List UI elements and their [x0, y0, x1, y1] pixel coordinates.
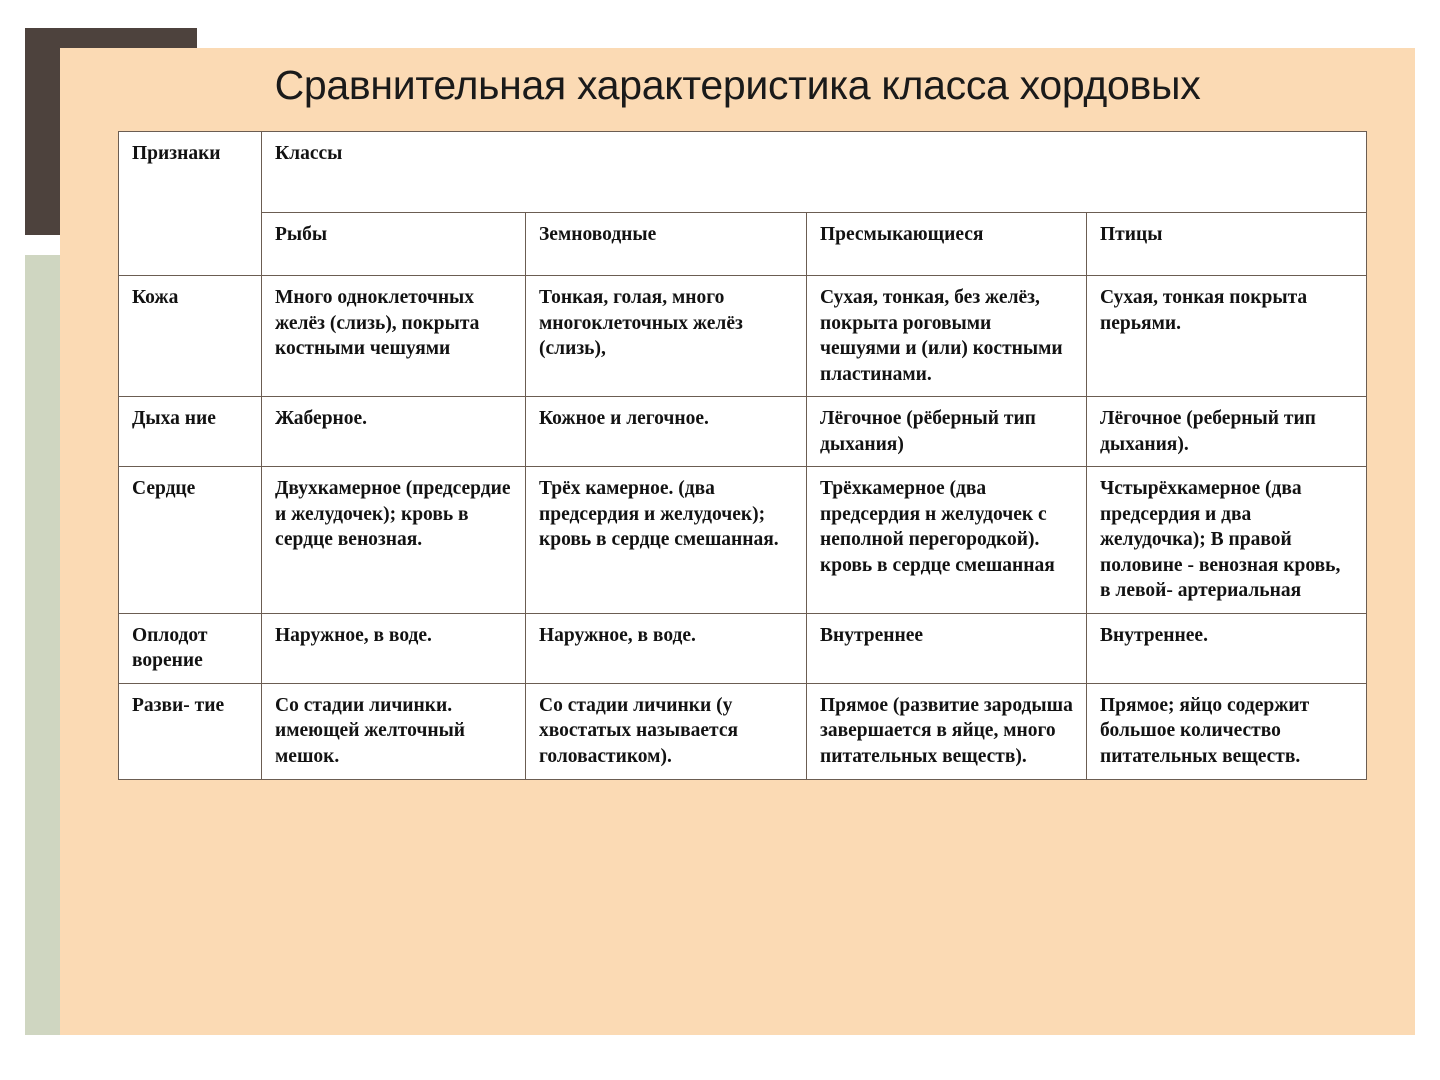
cell-birds: Прямое; яйцо содержит большое количество… [1087, 683, 1367, 779]
cell-fish: Много одноклеточных желёз (слизь), покры… [262, 276, 526, 397]
table-row: Дыха ние Жаберное. Кожное и легочное. Лё… [119, 397, 1367, 467]
cell-birds: Сухая, тонкая покрыта перьями. [1087, 276, 1367, 397]
cell-birds: Внутреннее. [1087, 613, 1367, 683]
cell-amphibians: Со стадии личинки (у хвостатых называетс… [526, 683, 807, 779]
header-cell-amphibians: Земноводные [526, 213, 807, 276]
cell-birds: Чстырёхкамерное (два предсердия и два же… [1087, 467, 1367, 614]
table-header-row-groups: Признаки Классы [119, 132, 1367, 213]
row-feature-label: Кожа [119, 276, 262, 397]
table-row: Разви- тие Со стадии личинки. имеющей же… [119, 683, 1367, 779]
cell-reptiles: Внутреннее [807, 613, 1087, 683]
cell-amphibians: Наружное, в воде. [526, 613, 807, 683]
header-cell-birds: Птицы [1087, 213, 1367, 276]
cell-fish: Двухкамерное (предсердие и желудочек); к… [262, 467, 526, 614]
cell-reptiles: Лёгочное (рёберный тип дыхания) [807, 397, 1087, 467]
table-row: Оплодот ворение Наружное, в воде. Наружн… [119, 613, 1367, 683]
cell-amphibians: Трёх камерное. (два предсердия и желудоч… [526, 467, 807, 614]
table-header-row-columns: Рыбы Земноводные Пресмыкающиеся Птицы [119, 213, 1367, 276]
row-feature-label: Разви- тие [119, 683, 262, 779]
row-feature-label: Сердце [119, 467, 262, 614]
cell-reptiles: Трёхкамерное (два предсердия н желудочек… [807, 467, 1087, 614]
cell-fish: Жаберное. [262, 397, 526, 467]
row-feature-label: Оплодот ворение [119, 613, 262, 683]
header-cell-reptiles: Пресмыкающиеся [807, 213, 1087, 276]
header-cell-classes: Классы [262, 132, 1367, 213]
cell-fish: Со стадии личинки. имеющей желточный меш… [262, 683, 526, 779]
comparison-table: Признаки Классы Рыбы Земноводные Пресмык… [118, 131, 1367, 780]
page-title: Сравнительная характеристика класса хорд… [60, 48, 1415, 122]
cell-amphibians: Кожное и легочное. [526, 397, 807, 467]
cell-birds: Лёгочное (реберный тип дыхания). [1087, 397, 1367, 467]
header-cell-features: Признаки [119, 132, 262, 276]
cell-amphibians: Тонкая, голая, много многоклеточных желё… [526, 276, 807, 397]
table-row: Сердце Двухкамерное (предсердие и желудо… [119, 467, 1367, 614]
row-feature-label: Дыха ние [119, 397, 262, 467]
cell-fish: Наружное, в воде. [262, 613, 526, 683]
header-cell-fish: Рыбы [262, 213, 526, 276]
table-row: Кожа Много одноклеточных желёз (слизь), … [119, 276, 1367, 397]
cell-reptiles: Прямое (развитие зародыша завершается в … [807, 683, 1087, 779]
cell-reptiles: Сухая, тонкая, без желёз, покрыта роговы… [807, 276, 1087, 397]
